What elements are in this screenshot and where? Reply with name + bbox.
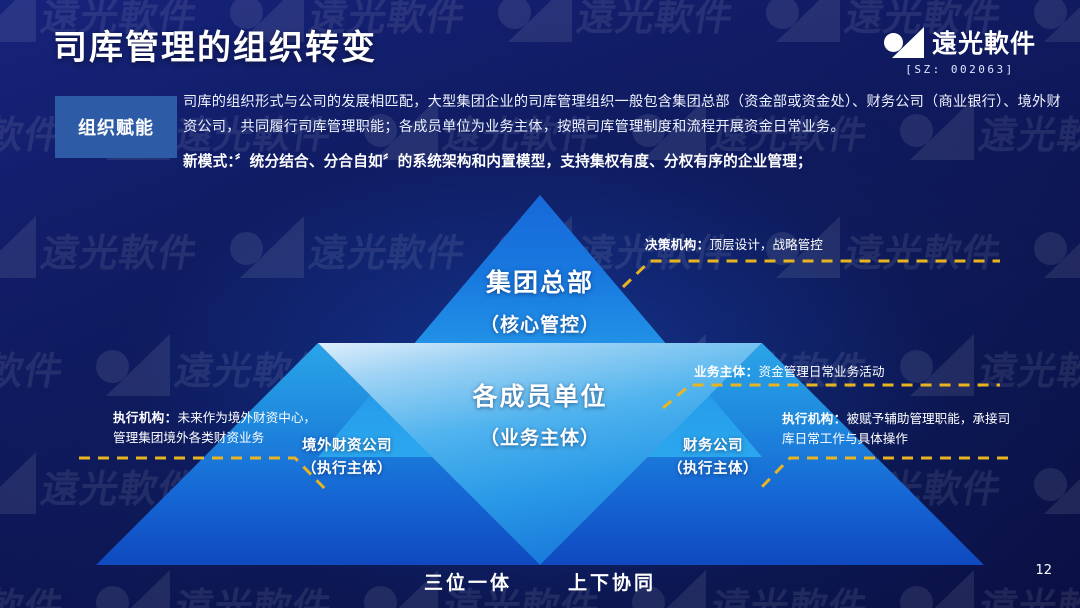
triangle-center-title: 各成员单位 (380, 381, 700, 415)
footer-slogan: 三位一体上下协同 (0, 568, 1080, 595)
callout-left-label: 执行机构： (113, 411, 177, 425)
brand-name: 遠光軟件 (932, 24, 1036, 60)
intro-new-mode: 新模式：〞统分结合、分合自如〞的系统架构和内置模型，支持集权有度、分权有序的企业… (183, 150, 1067, 175)
callout-decision: 决策机构：顶层设计，战略管控 (645, 235, 945, 255)
callout-business-label: 业务主体： (694, 365, 758, 379)
callout-left: 执行机构：未来作为境外财资中心，管理集团境外各类财资业务 (113, 408, 328, 448)
section-badge: 组织赋能 (55, 96, 177, 158)
triangle-top-title: 集团总部 (380, 267, 700, 301)
brand-logo: 遠光軟件 [SZ: 002063] (884, 24, 1036, 76)
triangle-right-title: 财务公司 (618, 437, 808, 457)
callout-decision-text: 顶层设计，战略管控 (709, 238, 822, 252)
watermark-logo-icon: 遠光軟件 (496, 0, 706, 66)
callout-decision-label: 决策机构： (645, 238, 709, 252)
callout-business: 业务主体：资金管理日常业务活动 (694, 362, 994, 382)
footer-item-1: 三位一体 (424, 573, 512, 594)
footer-item-2: 上下协同 (568, 573, 656, 594)
brand-stock-code: [SZ: 002063] (884, 63, 1036, 76)
page-number: 12 (1035, 563, 1052, 578)
yuanguang-logo-icon (884, 27, 924, 58)
callout-right: 执行机构：被赋予辅助管理职能，承接司库日常工作与具体操作 (782, 409, 1012, 449)
intro-paragraph-text: 司库的组织形式与公司的发展相匹配，大型集团企业的司库管理组织一般包含集团总部（资… (183, 94, 1061, 135)
watermark-logo-icon: 遠光軟件 (1032, 0, 1080, 66)
intro-paragraph: 司库的组织形式与公司的发展相匹配，大型集团企业的司库管理组织一般包含集团总部（资… (183, 90, 1067, 175)
triangle-right-label: 财务公司 （执行主体） (618, 437, 808, 479)
page-title: 司库管理的组织转变 (53, 20, 377, 69)
callout-business-text: 资金管理日常业务活动 (758, 365, 884, 379)
triangle-right-subtitle: （执行主体） (618, 460, 808, 480)
slide-canvas: 遠光軟件遠光軟件遠光軟件遠光軟件遠光軟件遠光軟件遠光軟件遠光軟件遠光軟件遠光軟件… (0, 0, 1080, 608)
triangle-left-subtitle: （执行主体） (252, 460, 442, 480)
callout-right-label: 执行机构： (782, 412, 846, 426)
watermark-logo-icon: 遠光軟件 (0, 88, 36, 184)
triangle-top-label: 集团总部 （核心管控） (380, 267, 700, 338)
triangle-top-subtitle: （核心管控） (380, 313, 700, 339)
